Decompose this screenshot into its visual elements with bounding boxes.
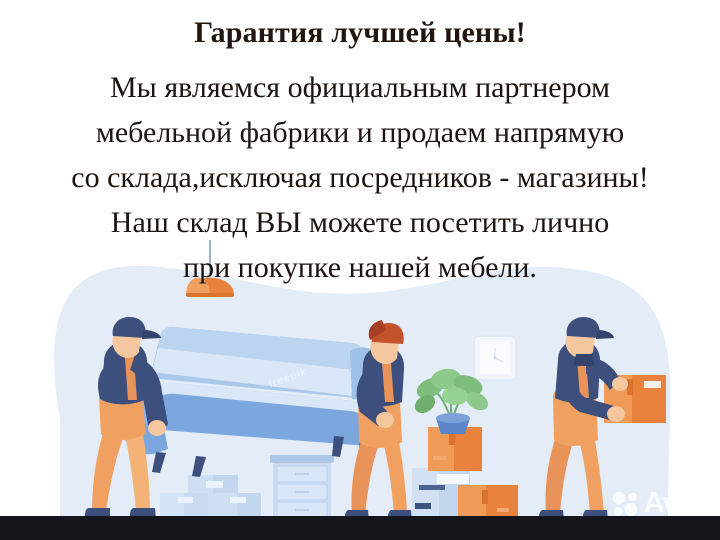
floor-strip: [0, 516, 720, 540]
avito-logo-icon: [611, 490, 641, 518]
avito-wordmark: Avito: [644, 489, 710, 518]
ad-banner: freepik Гарантия лучшей цены! Мы являемс…: [0, 0, 720, 540]
pendant-lamp-icon: [186, 240, 234, 297]
filing-cabinet: [270, 455, 334, 518]
warehouse-illustration: [0, 0, 720, 540]
avito-watermark: Avito: [611, 489, 710, 518]
wall-clock-icon: [474, 336, 516, 380]
